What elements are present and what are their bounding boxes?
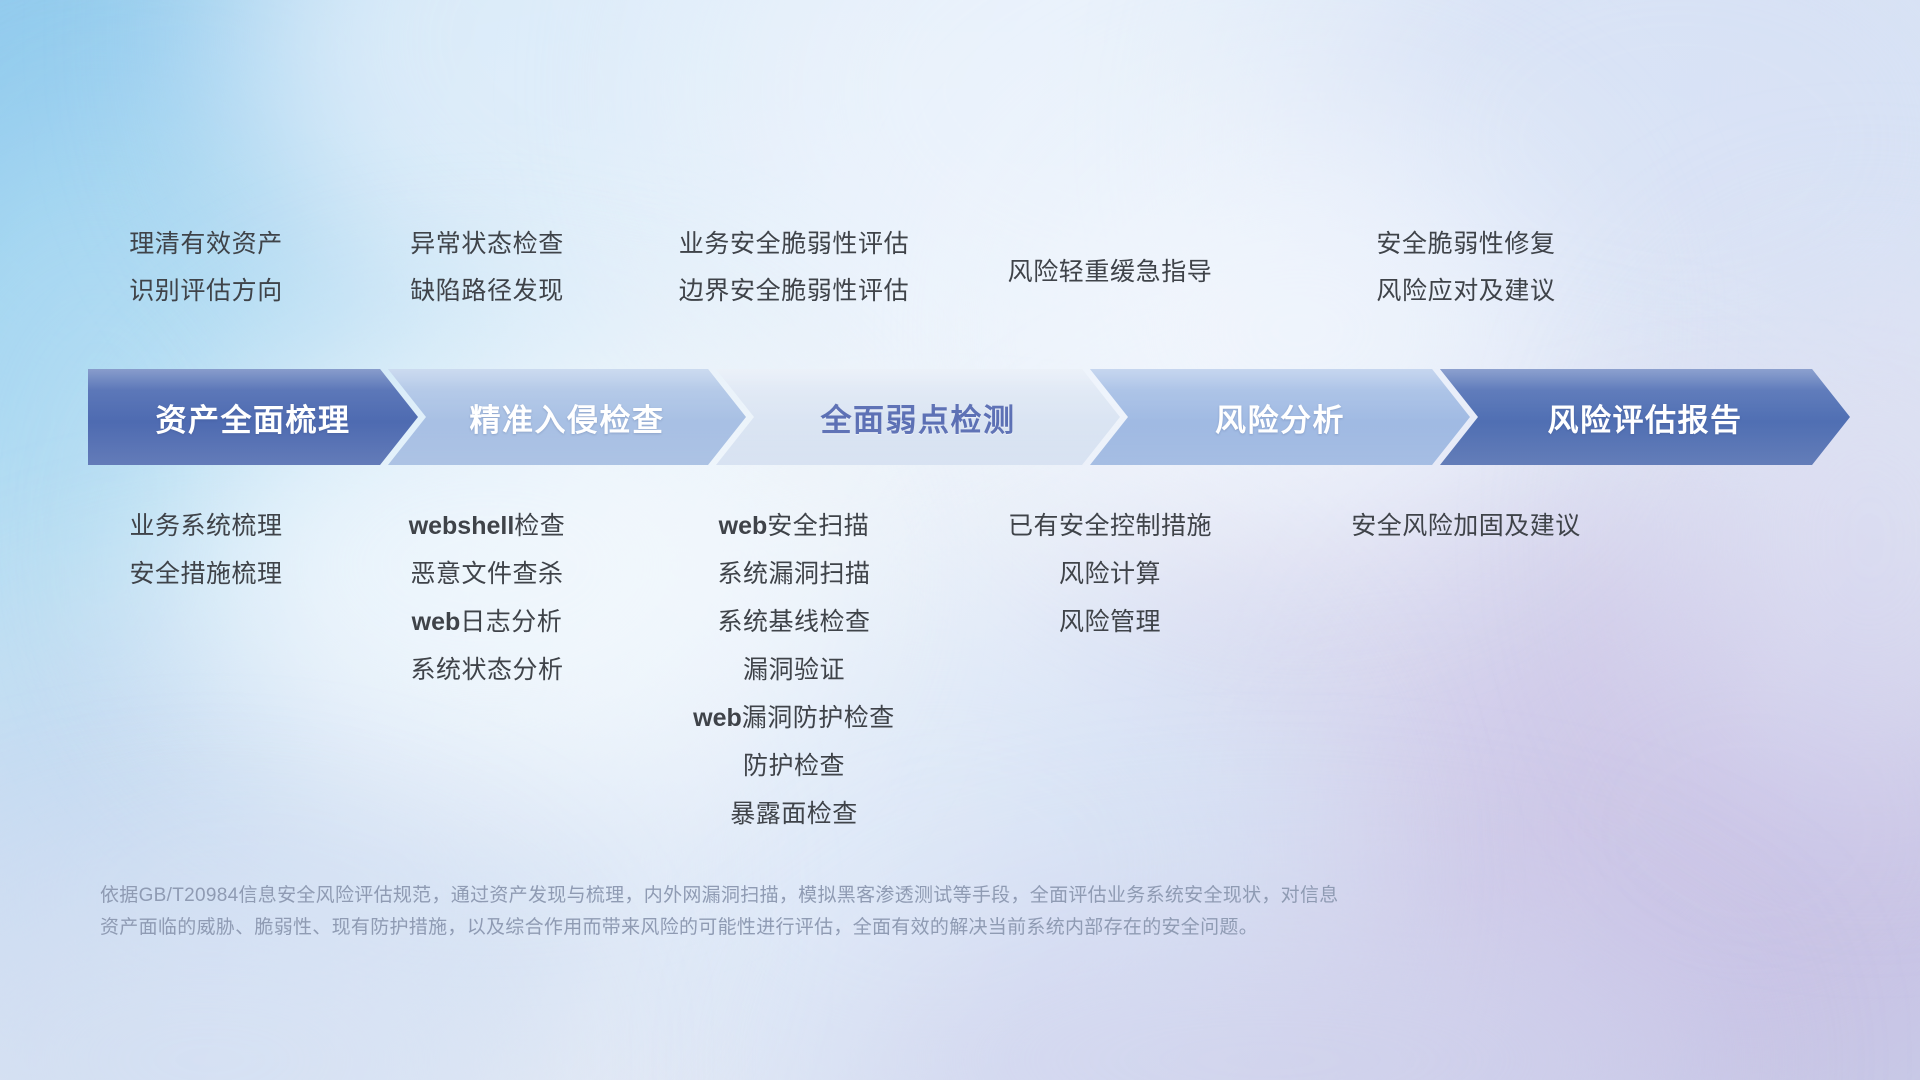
top-item: 缺陷路径发现 — [410, 279, 564, 304]
stage-bottom-annotations: 业务系统梳理 安全措施梳理 webshell检查 恶意文件查杀 web日志分析 … — [0, 514, 1920, 827]
stage-chevron-banner: 资产全面梳理 精准入侵检查 全面弱点检测 风险分析 风险评估报告 — [88, 369, 1850, 465]
stage-chevron-1[interactable]: 资产全面梳理 — [88, 369, 418, 465]
bottom-items-stage-2: webshell检查 恶意文件查杀 web日志分析 系统状态分析 — [340, 514, 634, 683]
top-item: 理清有效资产 — [129, 232, 283, 257]
top-items-stage-4: 风险轻重缓急指导 — [954, 232, 1266, 285]
stage-chevron-4[interactable]: 风险分析 — [1090, 369, 1470, 465]
top-item: 异常状态检查 — [410, 232, 564, 257]
stage-top-annotations: 理清有效资产 识别评估方向 异常状态检查 缺陷路径发现 业务安全脆弱性评估 边界… — [0, 232, 1920, 304]
bottom-item: 系统状态分析 — [410, 658, 563, 683]
stage-chevron-5[interactable]: 风险评估报告 — [1440, 369, 1850, 465]
top-item: 风险轻重缓急指导 — [1008, 260, 1213, 285]
bottom-item: 风险计算 — [1059, 562, 1161, 587]
stage-chevron-2[interactable]: 精准入侵检查 — [388, 369, 746, 465]
bottom-item: 暴露面检查 — [730, 802, 858, 827]
bottom-item: 防护检查 — [743, 754, 845, 779]
top-item: 边界安全脆弱性评估 — [679, 279, 909, 304]
top-item: 识别评估方向 — [129, 279, 283, 304]
bottom-item: 系统漏洞扫描 — [717, 562, 870, 587]
bottom-items-stage-4: 已有安全控制措施 风险计算 风险管理 — [954, 514, 1266, 635]
bottom-item: webshell检查 — [409, 514, 566, 539]
bottom-item: 恶意文件查杀 — [410, 562, 563, 587]
bottom-item: web漏洞防护检查 — [693, 706, 895, 731]
top-items-stage-5: 安全脆弱性修复 风险应对及建议 — [1310, 232, 1622, 304]
bottom-item: 已有安全控制措施 — [1008, 514, 1212, 539]
footer-line: 资产面临的威胁、脆弱性、现有防护措施，以及综合作用而带来风险的可能性进行评估，全… — [100, 912, 1620, 944]
stage-chevron-label: 全面弱点检测 — [821, 395, 1016, 440]
bottom-item: 系统基线检查 — [717, 610, 870, 635]
stage-chevron-3[interactable]: 全面弱点检测 — [716, 369, 1120, 465]
bottom-item: 风险管理 — [1059, 610, 1161, 635]
top-items-stage-3: 业务安全脆弱性评估 边界安全脆弱性评估 — [634, 232, 954, 304]
bottom-item: 安全措施梳理 — [129, 562, 282, 587]
top-item: 安全脆弱性修复 — [1376, 232, 1555, 257]
bottom-item: web日志分析 — [412, 610, 563, 635]
top-items-stage-2: 异常状态检查 缺陷路径发现 — [340, 232, 634, 304]
footer-description: 依据GB/T20984信息安全风险评估规范，通过资产发现与梳理，内外网漏洞扫描，… — [100, 880, 1620, 944]
bottom-item: 业务系统梳理 — [129, 514, 282, 539]
bottom-item: 漏洞验证 — [743, 658, 845, 683]
top-items-stage-1: 理清有效资产 识别评估方向 — [72, 232, 340, 304]
footer-line: 依据GB/T20984信息安全风险评估规范，通过资产发现与梳理，内外网漏洞扫描，… — [100, 880, 1620, 912]
process-diagram: 理清有效资产 识别评估方向 异常状态检查 缺陷路径发现 业务安全脆弱性评估 边界… — [0, 0, 1920, 1080]
top-item: 风险应对及建议 — [1376, 279, 1555, 304]
stage-chevron-label: 风险分析 — [1215, 395, 1345, 440]
bottom-item: web安全扫描 — [719, 514, 870, 539]
top-item: 业务安全脆弱性评估 — [679, 232, 909, 257]
stage-chevron-label: 风险评估报告 — [1548, 395, 1743, 440]
stage-chevron-label: 精准入侵检查 — [470, 395, 665, 440]
bottom-items-stage-3: web安全扫描 系统漏洞扫描 系统基线检查 漏洞验证 web漏洞防护检查 防护检… — [634, 514, 954, 827]
bottom-items-stage-1: 业务系统梳理 安全措施梳理 — [72, 514, 340, 587]
stage-chevron-label: 资产全面梳理 — [156, 395, 351, 440]
bottom-items-stage-5: 安全风险加固及建议 — [1310, 514, 1622, 539]
bottom-item: 安全风险加固及建议 — [1351, 514, 1581, 539]
